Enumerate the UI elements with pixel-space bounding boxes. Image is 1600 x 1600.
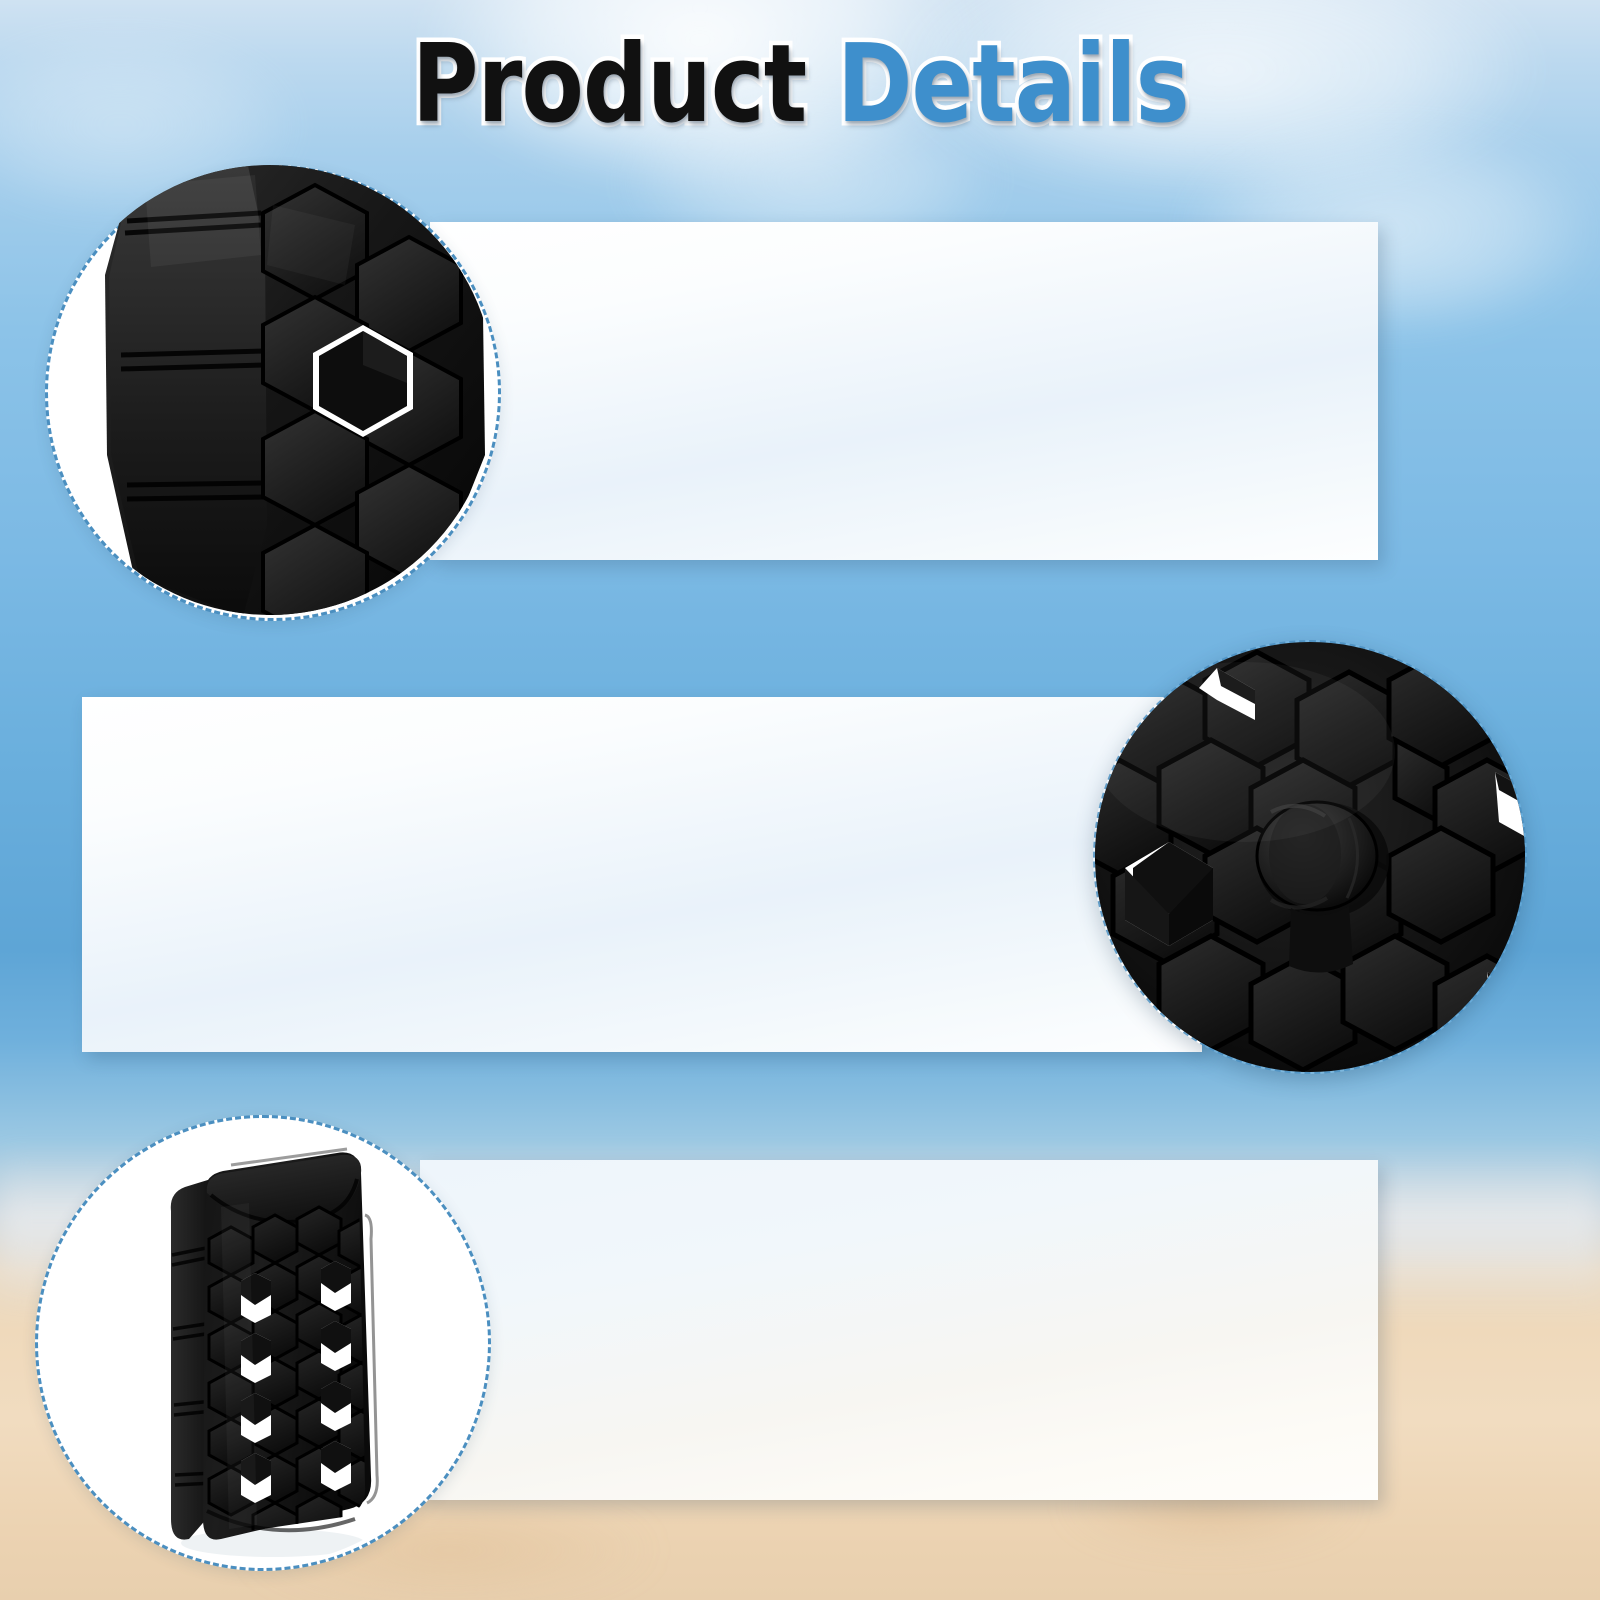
silicone-corner-closeup-image bbox=[45, 165, 495, 615]
title-word-product: Product bbox=[412, 22, 806, 147]
feature-card-simple-square-design bbox=[420, 1160, 1378, 1500]
feature-card-silicone-material bbox=[430, 222, 1378, 560]
feature-1-image-clip bbox=[45, 165, 495, 615]
buckle-closeup-image bbox=[1095, 642, 1525, 1072]
feature-3-image-clip bbox=[35, 1115, 485, 1565]
feature-card-adjustment-buckle bbox=[82, 697, 1202, 1052]
product-details-infographic: Product Details Silicone Material Durabl… bbox=[0, 0, 1600, 1600]
title-word-details: Details bbox=[837, 22, 1189, 147]
feature-2-image-circle[interactable] bbox=[1093, 640, 1527, 1074]
page-title: Product Details bbox=[0, 28, 1600, 142]
full-product-sleeve-image bbox=[35, 1115, 485, 1565]
